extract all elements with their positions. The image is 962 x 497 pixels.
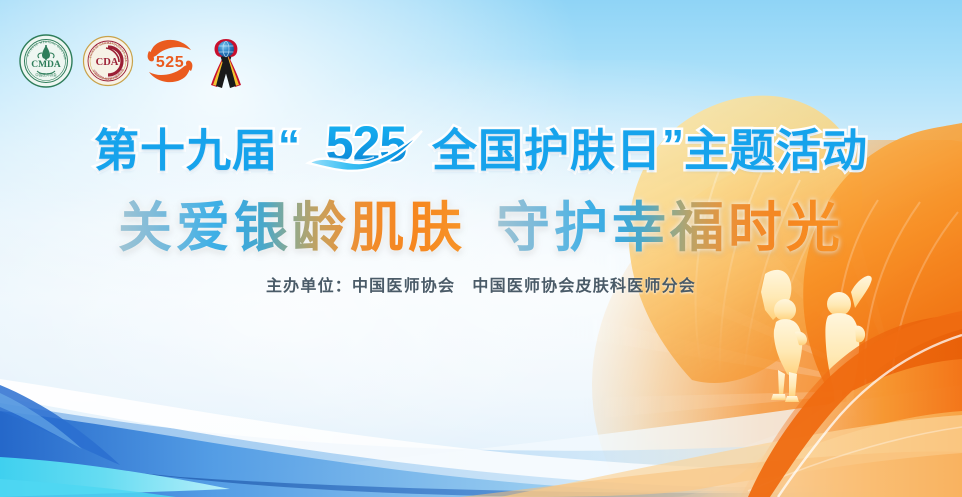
cda-logo[interactable]: CDA CHINESE DERMATOLOGIST ASSOCIATION 中国… [82, 35, 134, 87]
title-suffix: 主题活动 [684, 114, 868, 179]
awareness-ribbon-logo[interactable] [206, 33, 246, 89]
title-close-quote: ” [662, 121, 684, 171]
main-title: 第十九届 “ [0, 112, 962, 180]
title-middle: 全国护肤日 [432, 114, 662, 179]
svg-text:CMDA: CMDA [31, 60, 61, 70]
cmda-logo[interactable]: CMDA 中国医师协会 CHINESE MEDICAL DOCTOR ASSOC… [18, 33, 74, 89]
promo-banner: CMDA 中国医师协会 CHINESE MEDICAL DOCTOR ASSOC… [0, 0, 962, 497]
skin-care-day-525-logo[interactable]: 525 [142, 35, 198, 87]
logo-strip: CMDA 中国医师协会 CHINESE MEDICAL DOCTOR ASSOC… [18, 33, 246, 89]
slogan-line: 关爱银龄肌肤 守护幸福时光 [0, 186, 962, 258]
bottom-wave-ribbons [0, 307, 962, 497]
svg-text:CDA: CDA [96, 57, 119, 68]
slogan-left: 关爱银龄肌肤 [118, 183, 466, 262]
title-open-quote: “ [278, 121, 300, 171]
title-prefix: 第十九届 [94, 114, 278, 179]
emblem-525: 525 [302, 115, 430, 177]
slogan-right: 守护幸福时光 [496, 183, 844, 262]
organizer-line: 主办单位：中国医师协会 中国医师协会皮肤科医师分会 [0, 272, 962, 296]
svg-text:525: 525 [156, 54, 184, 71]
